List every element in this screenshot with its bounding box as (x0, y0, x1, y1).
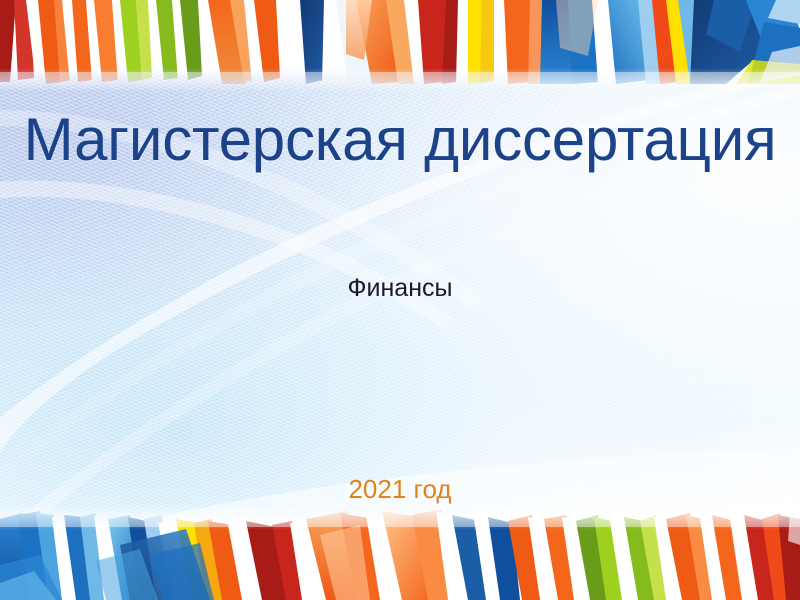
page-title: Магистерская диссертация (0, 108, 800, 171)
presentation-title-slide: Магистерская диссертация Финансы 2021 го… (0, 0, 800, 600)
year-text: 2021 год (0, 474, 800, 505)
subtitle-text: Финансы (0, 274, 800, 303)
